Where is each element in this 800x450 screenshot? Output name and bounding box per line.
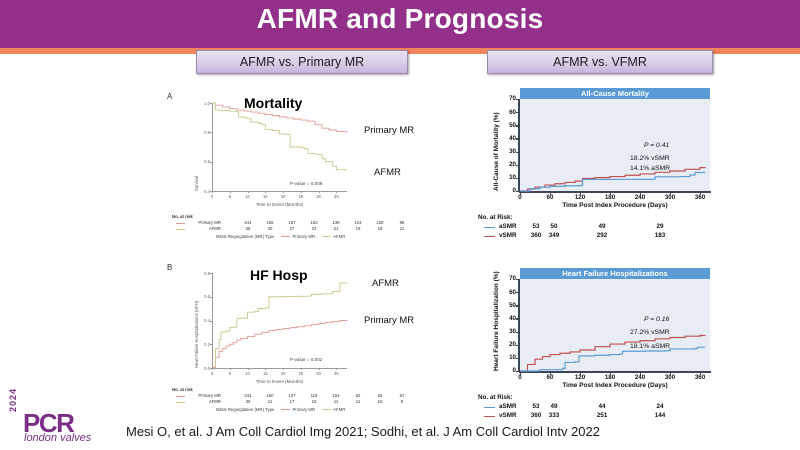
x-tick-label: 300 bbox=[663, 374, 677, 381]
chart-annotation: P = 0.41 bbox=[644, 142, 669, 149]
y-tick-label: 0.4 bbox=[194, 318, 210, 323]
km-legend-title: Mitral Regurgitation (MR) Type bbox=[216, 234, 274, 239]
x-tick-label: 0 bbox=[207, 194, 217, 199]
risk-row-value: 21 bbox=[329, 226, 343, 231]
y-axis-label: Heart Failure Hospitalization (%) bbox=[493, 271, 500, 371]
series-vsmr bbox=[520, 335, 705, 371]
x-tick-mark bbox=[640, 371, 641, 375]
risk-row-swatch bbox=[176, 402, 185, 403]
risk-row-label: vSMR bbox=[499, 232, 517, 239]
km-legend-title: Mitral Regurgitation (MR) Type bbox=[216, 407, 274, 412]
curve-label: Primary MR bbox=[364, 125, 414, 136]
chart-all-cause-mortality: All-Cause MortalityAll-Cause of Mortalit… bbox=[478, 88, 728, 253]
risk-row-value: 124 bbox=[351, 220, 365, 225]
x-tick-label: 30 bbox=[314, 194, 324, 199]
risk-row-value: 360 bbox=[528, 412, 544, 419]
curve-label: AFMR bbox=[374, 167, 401, 178]
risk-row-value: 24 bbox=[652, 403, 668, 410]
y-tick-mark bbox=[516, 138, 520, 139]
y-tick-label: 60 bbox=[502, 109, 516, 116]
risk-row-value: 83 bbox=[373, 393, 387, 398]
risk-row-value: 17 bbox=[285, 399, 299, 404]
x-tick-label: 25 bbox=[296, 371, 306, 376]
chart-annotation: 27.2% vSMR bbox=[630, 329, 670, 336]
x-tick-label: 0 bbox=[513, 194, 527, 201]
logo-subtitle: london valves bbox=[24, 432, 91, 444]
chart-hf-hosp-km: HF HospHeart Failure Hospitalizations (H… bbox=[172, 265, 462, 415]
x-tick-label: 360 bbox=[693, 194, 707, 201]
x-tick-label: 15 bbox=[260, 194, 270, 199]
y-tick-label: 0.2 bbox=[194, 342, 210, 347]
series-afmr bbox=[212, 103, 347, 170]
risk-row-value: 349 bbox=[546, 232, 562, 239]
y-tick-label: 60 bbox=[502, 289, 516, 296]
risk-row-value: 183 bbox=[652, 232, 668, 239]
y-tick-mark bbox=[516, 191, 520, 192]
risk-row-value: 360 bbox=[528, 232, 544, 239]
series-afmr bbox=[212, 283, 347, 367]
km-legend: Mitral Regurgitation (MR) TypePrimary MR… bbox=[216, 234, 345, 239]
km-legend-label: AFMR bbox=[333, 234, 345, 239]
chart-annotation: P = 0.16 bbox=[644, 316, 669, 323]
risk-row-label: AFMR bbox=[187, 399, 221, 404]
km-legend-label: Primary MR bbox=[292, 234, 315, 239]
x-tick-mark bbox=[700, 371, 701, 375]
km-curves bbox=[520, 279, 710, 371]
x-tick-mark bbox=[550, 191, 551, 195]
x-tick-label: 30 bbox=[314, 371, 324, 376]
chart-annotation: 14.1% aSMR bbox=[630, 165, 670, 172]
risk-row-value: 333 bbox=[546, 412, 562, 419]
y-tick-label: 40 bbox=[502, 135, 516, 142]
chart-hf-hospitalizations: Heart Failure HospitalizationsHeart Fail… bbox=[478, 268, 728, 433]
x-tick-label: 20 bbox=[278, 371, 288, 376]
tab-afmr-vs-primary-mr[interactable]: AFMR vs. Primary MR bbox=[196, 50, 408, 74]
risk-row-value: 160 bbox=[263, 393, 277, 398]
risk-row-value: 49 bbox=[546, 403, 562, 410]
km-curves bbox=[212, 273, 349, 370]
x-tick-label: 180 bbox=[603, 194, 617, 201]
y-tick-label: 70 bbox=[502, 275, 516, 282]
risk-row-value: 29 bbox=[652, 223, 668, 230]
risk-row-value: 53 bbox=[528, 403, 544, 410]
risk-row-value: 44 bbox=[594, 403, 610, 410]
risk-row-value: 244 bbox=[241, 393, 255, 398]
x-tick-label: 35 bbox=[331, 371, 341, 376]
series-primary-mr bbox=[212, 320, 347, 368]
x-tick-mark bbox=[610, 371, 611, 375]
page-title: AFMR and Prognosis bbox=[0, 3, 800, 35]
risk-row-value: 67 bbox=[395, 393, 409, 398]
risk-row-value: 19 bbox=[351, 226, 365, 231]
chart-mortality-km: MortalitySurvivalTime to Event (Months)1… bbox=[172, 95, 462, 245]
km-legend-label: AFMR bbox=[333, 407, 345, 412]
risk-row-value: 27 bbox=[285, 226, 299, 231]
x-tick-mark bbox=[550, 371, 551, 375]
x-tick-label: 20 bbox=[278, 194, 288, 199]
x-tick-label: 60 bbox=[543, 194, 557, 201]
x-tick-label: 180 bbox=[603, 374, 617, 381]
risk-row-swatch bbox=[484, 407, 495, 408]
km-curves bbox=[212, 103, 349, 193]
y-tick-label: 0.6 bbox=[194, 294, 210, 299]
y-tick-label: 0.8 bbox=[194, 271, 210, 276]
tab-afmr-vs-vfmr[interactable]: AFMR vs. VFMR bbox=[487, 50, 713, 74]
x-tick-mark bbox=[640, 191, 641, 195]
risk-row-value: 49 bbox=[594, 223, 610, 230]
risk-row-swatch bbox=[484, 416, 495, 417]
y-tick-mark bbox=[516, 332, 520, 333]
y-axis-label: All-Cause of Mortality (%) bbox=[493, 112, 500, 191]
x-tick-label: 5 bbox=[225, 194, 235, 199]
risk-row-value: 244 bbox=[241, 220, 255, 225]
risk-row-value: 251 bbox=[594, 412, 610, 419]
chart-annotation: 18.1% aSMR bbox=[630, 343, 670, 350]
risk-row-label: aSMR bbox=[499, 223, 517, 230]
risk-row-value: 9 bbox=[395, 399, 409, 404]
y-tick-label: 20 bbox=[502, 161, 516, 168]
y-tick-label: 10 bbox=[502, 354, 516, 361]
y-tick-label: 10 bbox=[502, 174, 516, 181]
curve-label: Primary MR bbox=[364, 315, 414, 326]
risk-row-swatch bbox=[176, 223, 185, 224]
x-tick-mark bbox=[670, 191, 671, 195]
risk-row-value: 119 bbox=[307, 393, 321, 398]
x-axis-label: Time to Event (Months) bbox=[212, 379, 347, 384]
x-tick-label: 0 bbox=[513, 374, 527, 381]
risk-row-value: 144 bbox=[652, 412, 668, 419]
logo-year: 2024 bbox=[8, 388, 18, 412]
km-legend-item: Primary MR bbox=[281, 234, 315, 239]
risk-row-value: 153 bbox=[307, 220, 321, 225]
risk-row-value: 167 bbox=[285, 220, 299, 225]
x-tick-label: 240 bbox=[633, 374, 647, 381]
risk-row-value: 139 bbox=[329, 220, 343, 225]
y-tick-label: 20 bbox=[502, 341, 516, 348]
x-tick-label: 60 bbox=[543, 374, 557, 381]
x-tick-label: 35 bbox=[331, 194, 341, 199]
y-tick-label: 30 bbox=[502, 148, 516, 155]
x-tick-label: 120 bbox=[573, 374, 587, 381]
curve-label: AFMR bbox=[372, 278, 399, 289]
km-curves bbox=[520, 99, 710, 191]
risk-row-value: 23 bbox=[307, 226, 321, 231]
x-tick-mark bbox=[670, 371, 671, 375]
y-tick-mark bbox=[516, 178, 520, 179]
x-tick-label: 10 bbox=[243, 194, 253, 199]
km-legend-label: Primary MR bbox=[292, 407, 315, 412]
y-tick-mark bbox=[516, 371, 520, 372]
risk-table-header: No. at risk bbox=[172, 387, 193, 392]
chart-title-banner: All-Cause Mortality bbox=[520, 88, 710, 99]
x-tick-label: 300 bbox=[663, 194, 677, 201]
x-axis-label: Time Post Index Procedure (Days) bbox=[520, 202, 710, 209]
risk-table-header: No. at risk bbox=[172, 214, 193, 219]
risk-table-header: No. at Risk: bbox=[478, 394, 513, 401]
tab-label: AFMR vs. Primary MR bbox=[240, 55, 364, 69]
risk-row-label: Primary MR bbox=[187, 220, 221, 225]
x-axis-label: Time Post Index Procedure (Days) bbox=[520, 382, 710, 389]
risk-row-value: 39 bbox=[241, 399, 255, 404]
y-tick-mark bbox=[516, 292, 520, 293]
y-tick-label: 1.0 bbox=[194, 101, 210, 106]
y-tick-label: 0.0 bbox=[194, 366, 210, 371]
y-tick-mark bbox=[516, 345, 520, 346]
y-tick-mark bbox=[516, 305, 520, 306]
series-primary-mr bbox=[212, 103, 347, 132]
y-tick-mark bbox=[516, 318, 520, 319]
y-tick-label: 70 bbox=[502, 95, 516, 102]
km-legend-item: AFMR bbox=[322, 234, 345, 239]
y-tick-label: 30 bbox=[502, 328, 516, 335]
risk-row-label: aSMR bbox=[499, 403, 517, 410]
risk-row-value: 21 bbox=[263, 399, 277, 404]
risk-row-value: 108 bbox=[373, 220, 387, 225]
x-tick-mark bbox=[580, 191, 581, 195]
y-tick-mark bbox=[516, 125, 520, 126]
risk-row-value: 11 bbox=[351, 399, 365, 404]
x-tick-label: 120 bbox=[573, 194, 587, 201]
y-tick-mark bbox=[516, 165, 520, 166]
km-legend-item: Primary MR bbox=[281, 407, 315, 412]
y-tick-mark bbox=[516, 358, 520, 359]
km-legend-item: AFMR bbox=[322, 407, 345, 412]
y-tick-mark bbox=[516, 279, 520, 280]
km-legend: Mitral Regurgitation (MR) TypePrimary MR… bbox=[216, 407, 345, 412]
risk-table-header: No. at Risk: bbox=[478, 214, 513, 221]
x-tick-mark bbox=[610, 191, 611, 195]
p-value-annotation: P-value = 0.002 bbox=[290, 357, 322, 362]
y-tick-label: 0.6 bbox=[194, 159, 210, 164]
risk-row-swatch bbox=[484, 236, 495, 237]
x-tick-label: 0 bbox=[207, 371, 217, 376]
risk-row-swatch bbox=[484, 227, 495, 228]
x-tick-label: 360 bbox=[693, 374, 707, 381]
y-axis-label: Heart Failure Hospitalizations (HFH) bbox=[194, 301, 199, 368]
km-legend-swatch bbox=[322, 236, 331, 237]
risk-row-value: 10 bbox=[373, 399, 387, 404]
x-tick-label: 25 bbox=[296, 194, 306, 199]
risk-row-value: 53 bbox=[528, 223, 544, 230]
x-tick-mark bbox=[700, 191, 701, 195]
pcr-london-valves-logo: 2024 PCR london valves bbox=[6, 404, 118, 446]
x-axis-label: Time to Event (Months) bbox=[212, 202, 347, 207]
tab-label: AFMR vs. VFMR bbox=[553, 55, 647, 69]
chart-annotation: 18.2% vSMR bbox=[630, 155, 670, 162]
risk-row-swatch bbox=[176, 229, 185, 230]
km-legend-swatch bbox=[322, 409, 331, 410]
slide-header-bar: AFMR and Prognosis bbox=[0, 0, 800, 48]
x-axis-line bbox=[519, 191, 711, 193]
risk-row-value: 15 bbox=[307, 399, 321, 404]
x-tick-label: 5 bbox=[225, 371, 235, 376]
y-tick-label: 0.4 bbox=[194, 189, 210, 194]
p-value-annotation: P-value = 0.009 bbox=[290, 181, 322, 186]
risk-row-value: 11 bbox=[395, 226, 409, 231]
y-tick-label: 50 bbox=[502, 122, 516, 129]
km-legend-swatch bbox=[281, 236, 290, 237]
y-tick-label: 0.8 bbox=[194, 130, 210, 135]
y-tick-mark bbox=[516, 152, 520, 153]
x-tick-mark bbox=[580, 371, 581, 375]
risk-row-swatch bbox=[176, 396, 185, 397]
series-asmr bbox=[520, 347, 705, 371]
x-tick-label: 240 bbox=[633, 194, 647, 201]
risk-row-label: AFMR bbox=[187, 226, 221, 231]
risk-row-label: Primary MR bbox=[187, 393, 221, 398]
chart-title-banner: Heart Failure Hospitalizations bbox=[520, 268, 710, 279]
x-axis-line bbox=[519, 371, 711, 373]
risk-row-value: 11 bbox=[329, 399, 343, 404]
y-tick-mark bbox=[516, 112, 520, 113]
risk-row-value: 166 bbox=[263, 220, 277, 225]
risk-row-value: 30 bbox=[263, 226, 277, 231]
risk-row-label: vSMR bbox=[499, 412, 517, 419]
risk-row-value: 137 bbox=[285, 393, 299, 398]
risk-row-value: 39 bbox=[241, 226, 255, 231]
risk-row-value: 50 bbox=[546, 223, 562, 230]
risk-row-value: 18 bbox=[373, 226, 387, 231]
series-asmr bbox=[520, 172, 705, 191]
x-tick-label: 10 bbox=[243, 371, 253, 376]
y-tick-label: 50 bbox=[502, 302, 516, 309]
y-tick-label: 40 bbox=[502, 315, 516, 322]
citation-text: Mesi O, et al. J Am Coll Cardiol Img 202… bbox=[126, 424, 600, 439]
risk-row-value: 92 bbox=[351, 393, 365, 398]
risk-row-value: 104 bbox=[329, 393, 343, 398]
risk-row-value: 88 bbox=[395, 220, 409, 225]
km-legend-swatch bbox=[281, 409, 290, 410]
y-tick-mark bbox=[516, 99, 520, 100]
risk-row-value: 292 bbox=[594, 232, 610, 239]
x-tick-label: 15 bbox=[260, 371, 270, 376]
